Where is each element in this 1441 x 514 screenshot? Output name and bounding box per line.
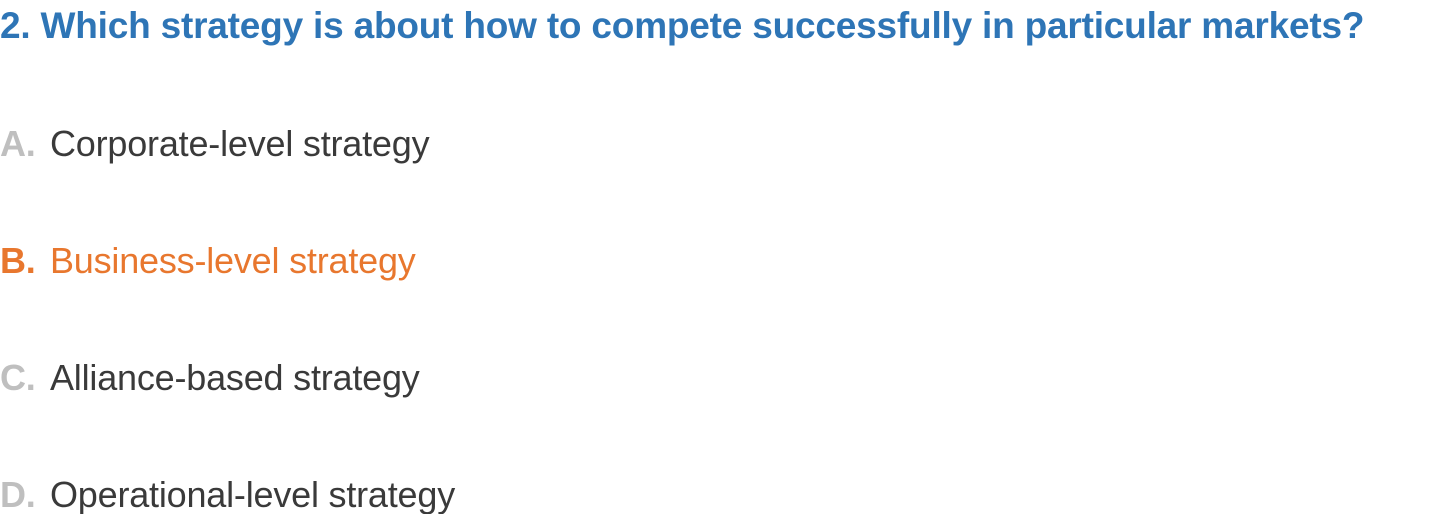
- option-marker-d: D.: [0, 471, 50, 514]
- option-label-c: Alliance-based strategy: [50, 354, 420, 402]
- quiz-slide: 2. Which strategy is about how to compet…: [0, 0, 1441, 514]
- answer-option-d[interactable]: D. Operational-level strategy: [0, 471, 1441, 514]
- answer-option-a[interactable]: A. Corporate-level strategy: [0, 120, 1441, 176]
- option-label-b: Business-level strategy: [50, 237, 416, 285]
- option-label-a: Corporate-level strategy: [50, 120, 429, 168]
- option-marker-b: B.: [0, 237, 50, 285]
- option-label-d: Operational-level strategy: [50, 471, 455, 514]
- answer-option-c[interactable]: C. Alliance-based strategy: [0, 354, 1441, 410]
- page-title: 2. Which strategy is about how to compet…: [0, 0, 1441, 54]
- answer-option-b[interactable]: B. Business-level strategy: [0, 237, 1441, 293]
- option-marker-a: A.: [0, 120, 50, 168]
- option-marker-c: C.: [0, 354, 50, 402]
